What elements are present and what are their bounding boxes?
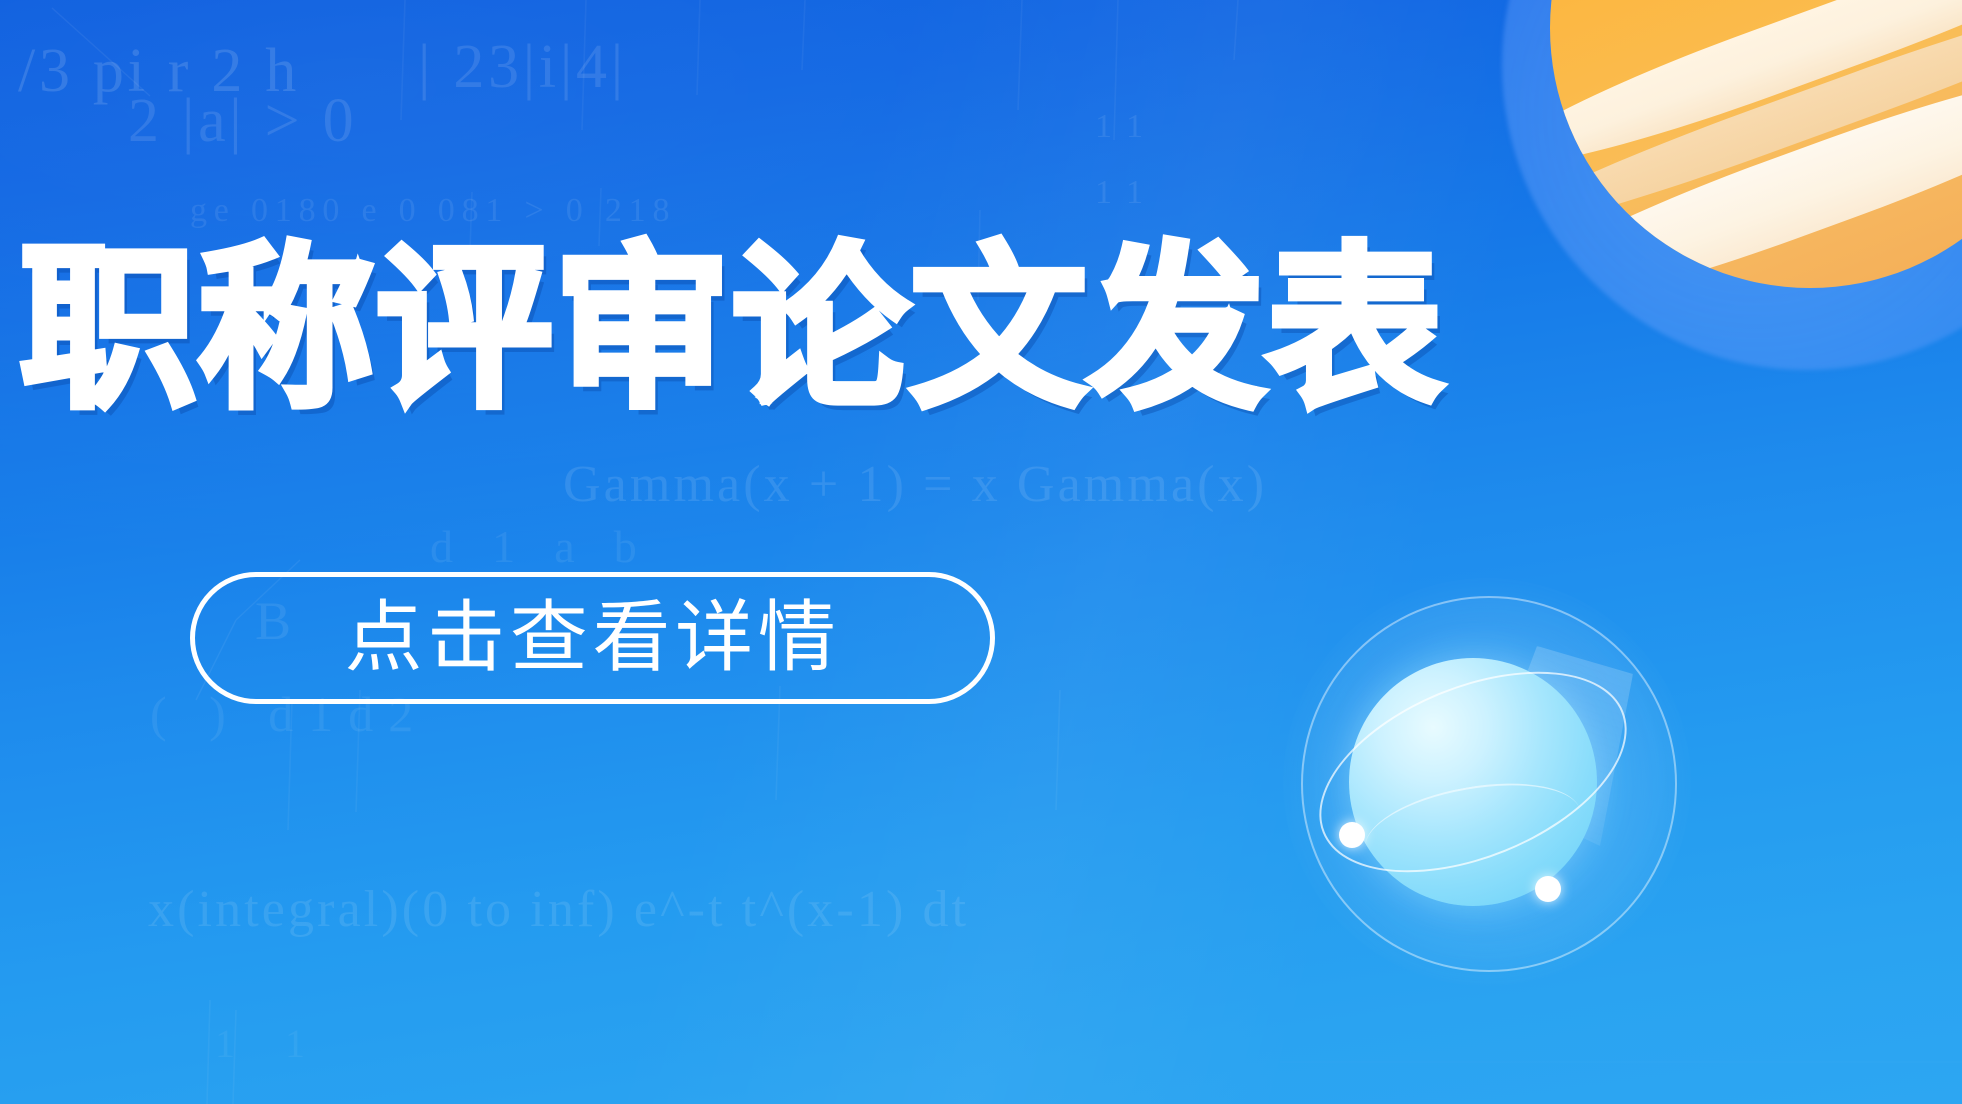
formula-watermark: d 1 a b xyxy=(430,520,651,573)
saturn-planet-icon xyxy=(1550,0,1962,288)
view-details-button[interactable]: 点击查看详情 xyxy=(190,572,995,704)
page-title: 职称评审论文发表 xyxy=(20,242,1445,418)
formula-watermark: 11 xyxy=(1095,174,1158,212)
promo-banner: /3 pi r 2 h 2 |a| > 0 | 23|i|4| ge 0180 … xyxy=(0,0,1962,1104)
formula-watermark: /3 pi r 2 h xyxy=(18,36,300,107)
orb-electron-dot xyxy=(1535,876,1561,902)
view-details-button-label: 点击查看详情 xyxy=(344,599,840,677)
formula-watermark: 11 xyxy=(1095,108,1158,146)
formula-watermark: 1 1 xyxy=(215,1020,325,1067)
atom-orb-icon xyxy=(1273,568,1703,998)
formula-watermark: 2 |a| > 0 xyxy=(128,86,357,157)
formula-watermark: ge 0180 e 0 081 > 0 218 xyxy=(190,192,676,230)
formula-watermark: Gamma(x + 1) = x Gamma(x) xyxy=(563,455,1267,514)
formula-watermark: x(integral)(0 to inf) e^-t t^(x-1) dt xyxy=(148,880,969,939)
formula-watermark: | 23|i|4| xyxy=(418,32,627,103)
orb-electron-dot xyxy=(1339,822,1365,848)
